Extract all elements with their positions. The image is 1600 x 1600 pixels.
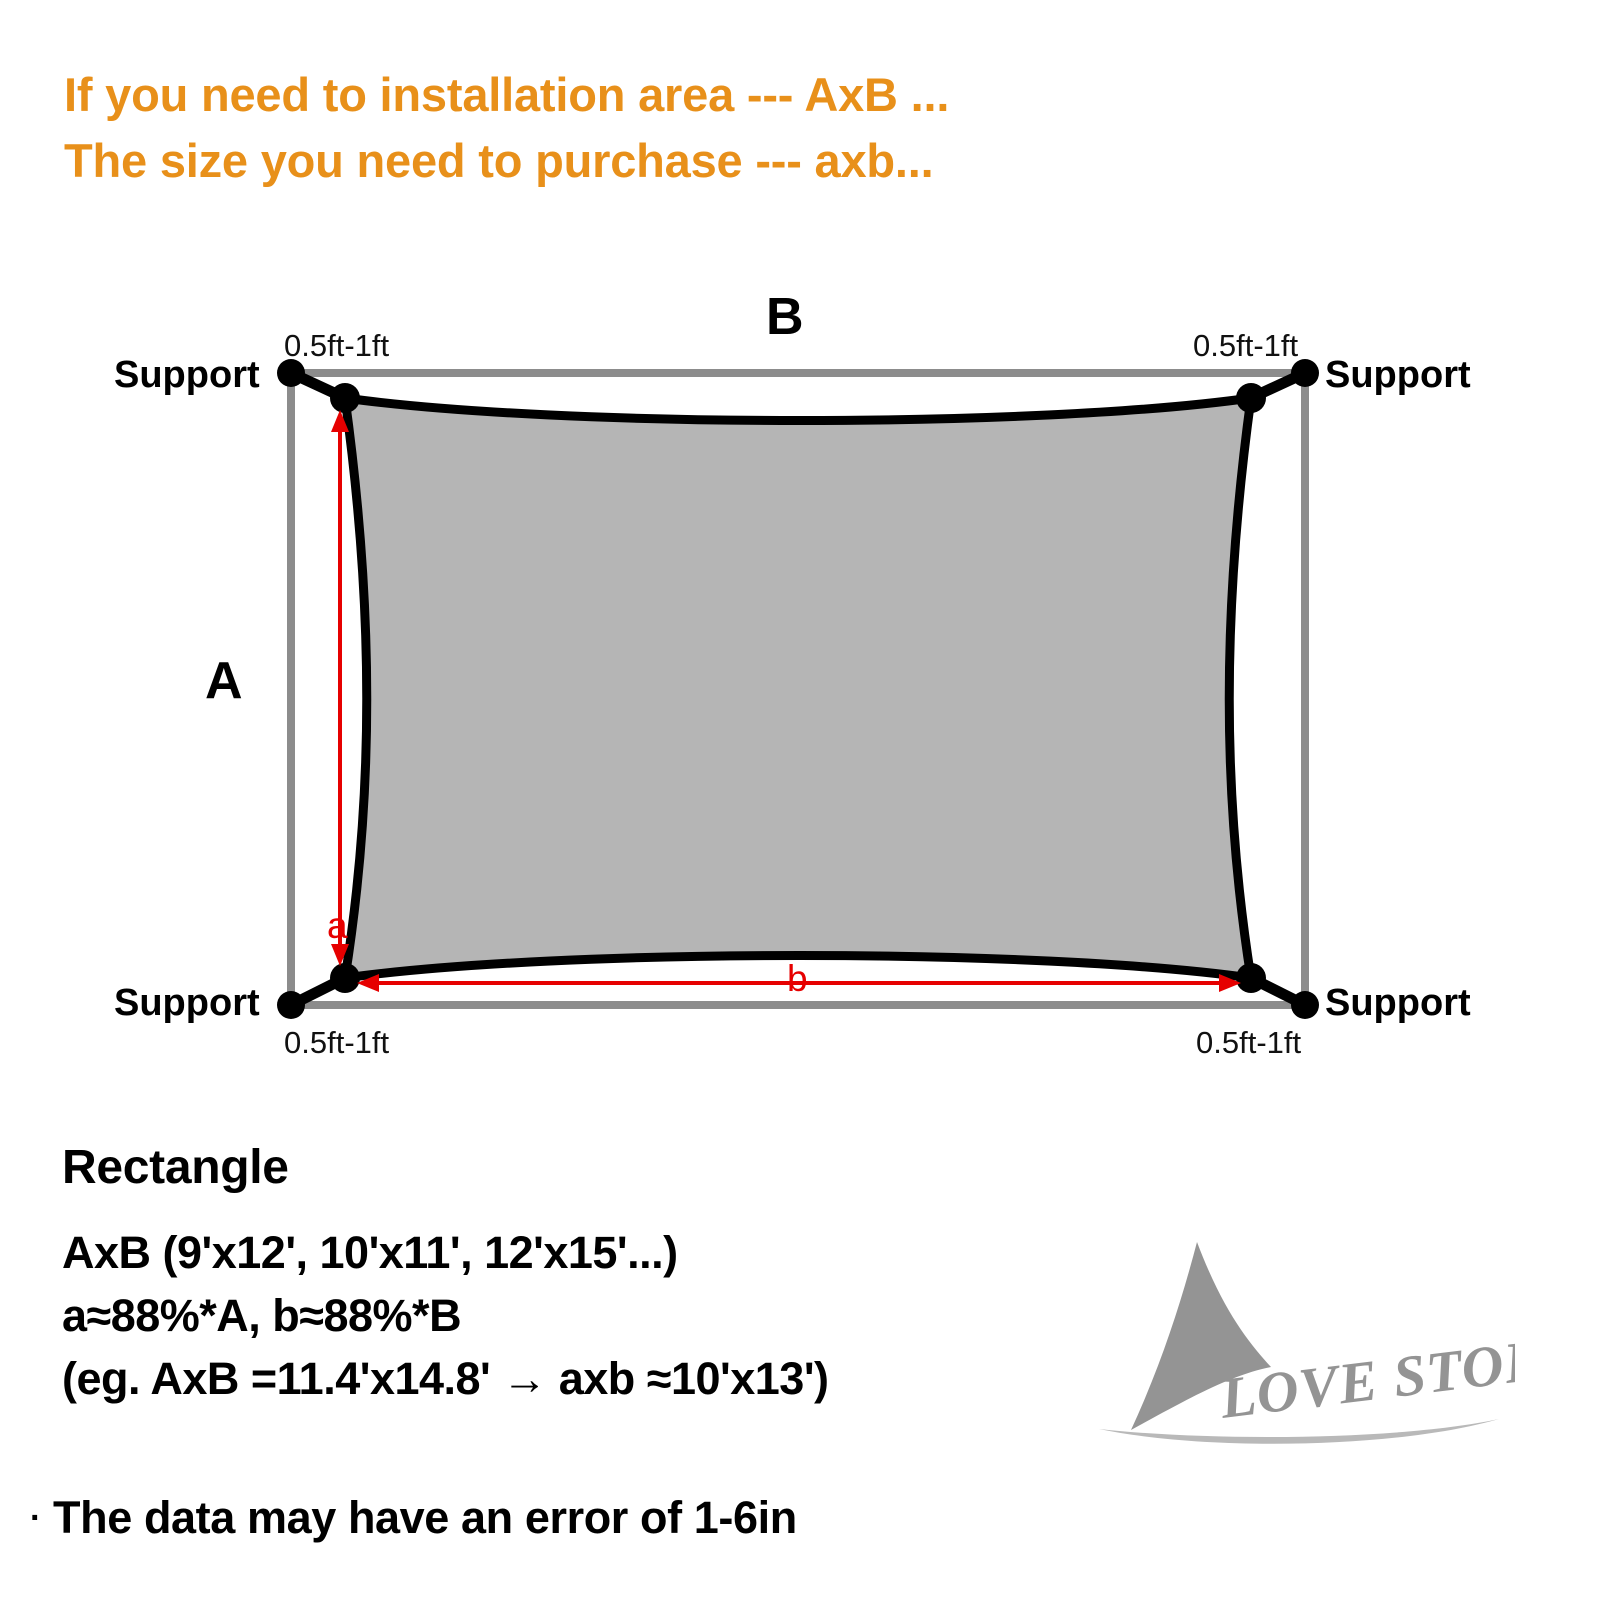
support-label-bottom-right: Support — [1325, 982, 1471, 1025]
support-label-top-left: Support — [114, 354, 260, 397]
logo-swoosh-icon — [1099, 1419, 1499, 1444]
product-size-guide-image: If you need to installation area --- AxB… — [0, 0, 1600, 1600]
gap-annotation-bottom-left: 0.5ft-1ft — [284, 1025, 389, 1061]
spec-line-sizes: AxB (9'x12', 10'x11', 12'x15'...) — [62, 1221, 1122, 1284]
spec-block: Rectangle AxB (9'x12', 10'x11', 12'x15'.… — [62, 1140, 1122, 1410]
sail-label-b-lowercase: b — [787, 958, 808, 1000]
shade-sail-shape — [345, 398, 1251, 978]
spec-title: Rectangle — [62, 1140, 1122, 1195]
support-label-bottom-left: Support — [114, 982, 260, 1025]
brand-logo: LOVE STORY — [1095, 1215, 1515, 1445]
spec-line-example: (eg. AxB =11.4'x14.8' → axb ≈10'x13') — [62, 1347, 1122, 1410]
header-line-1: If you need to installation area --- AxB… — [64, 62, 1364, 128]
sail-label-a-lowercase: a — [327, 905, 348, 947]
footer-note: · The data may have an error of 1-6in — [30, 1492, 797, 1544]
spec-line-ratio: a≈88%*A, b≈88%*B — [62, 1284, 1122, 1347]
gap-annotation-top-left: 0.5ft-1ft — [284, 328, 389, 364]
bullet-icon: · — [30, 1499, 41, 1537]
logo-wordmark: LOVE STORY — [1216, 1322, 1515, 1431]
support-label-top-right: Support — [1325, 354, 1471, 397]
area-label-a-uppercase: A — [205, 651, 243, 711]
gap-annotation-bottom-right: 0.5ft-1ft — [1196, 1025, 1301, 1061]
footer-note-text: The data may have an error of 1-6in — [53, 1492, 797, 1543]
gap-annotation-top-right: 0.5ft-1ft — [1193, 328, 1298, 364]
header-line-2: The size you need to purchase --- axb... — [64, 128, 1364, 194]
area-label-b-uppercase: B — [766, 287, 804, 347]
installation-diagram: Support Support Support Support 0.5ft-1f… — [0, 250, 1600, 1090]
logo-graphics: LOVE STORY — [1095, 1215, 1515, 1445]
dimension-line-a — [331, 410, 349, 966]
header-block: If you need to installation area --- AxB… — [64, 62, 1364, 194]
